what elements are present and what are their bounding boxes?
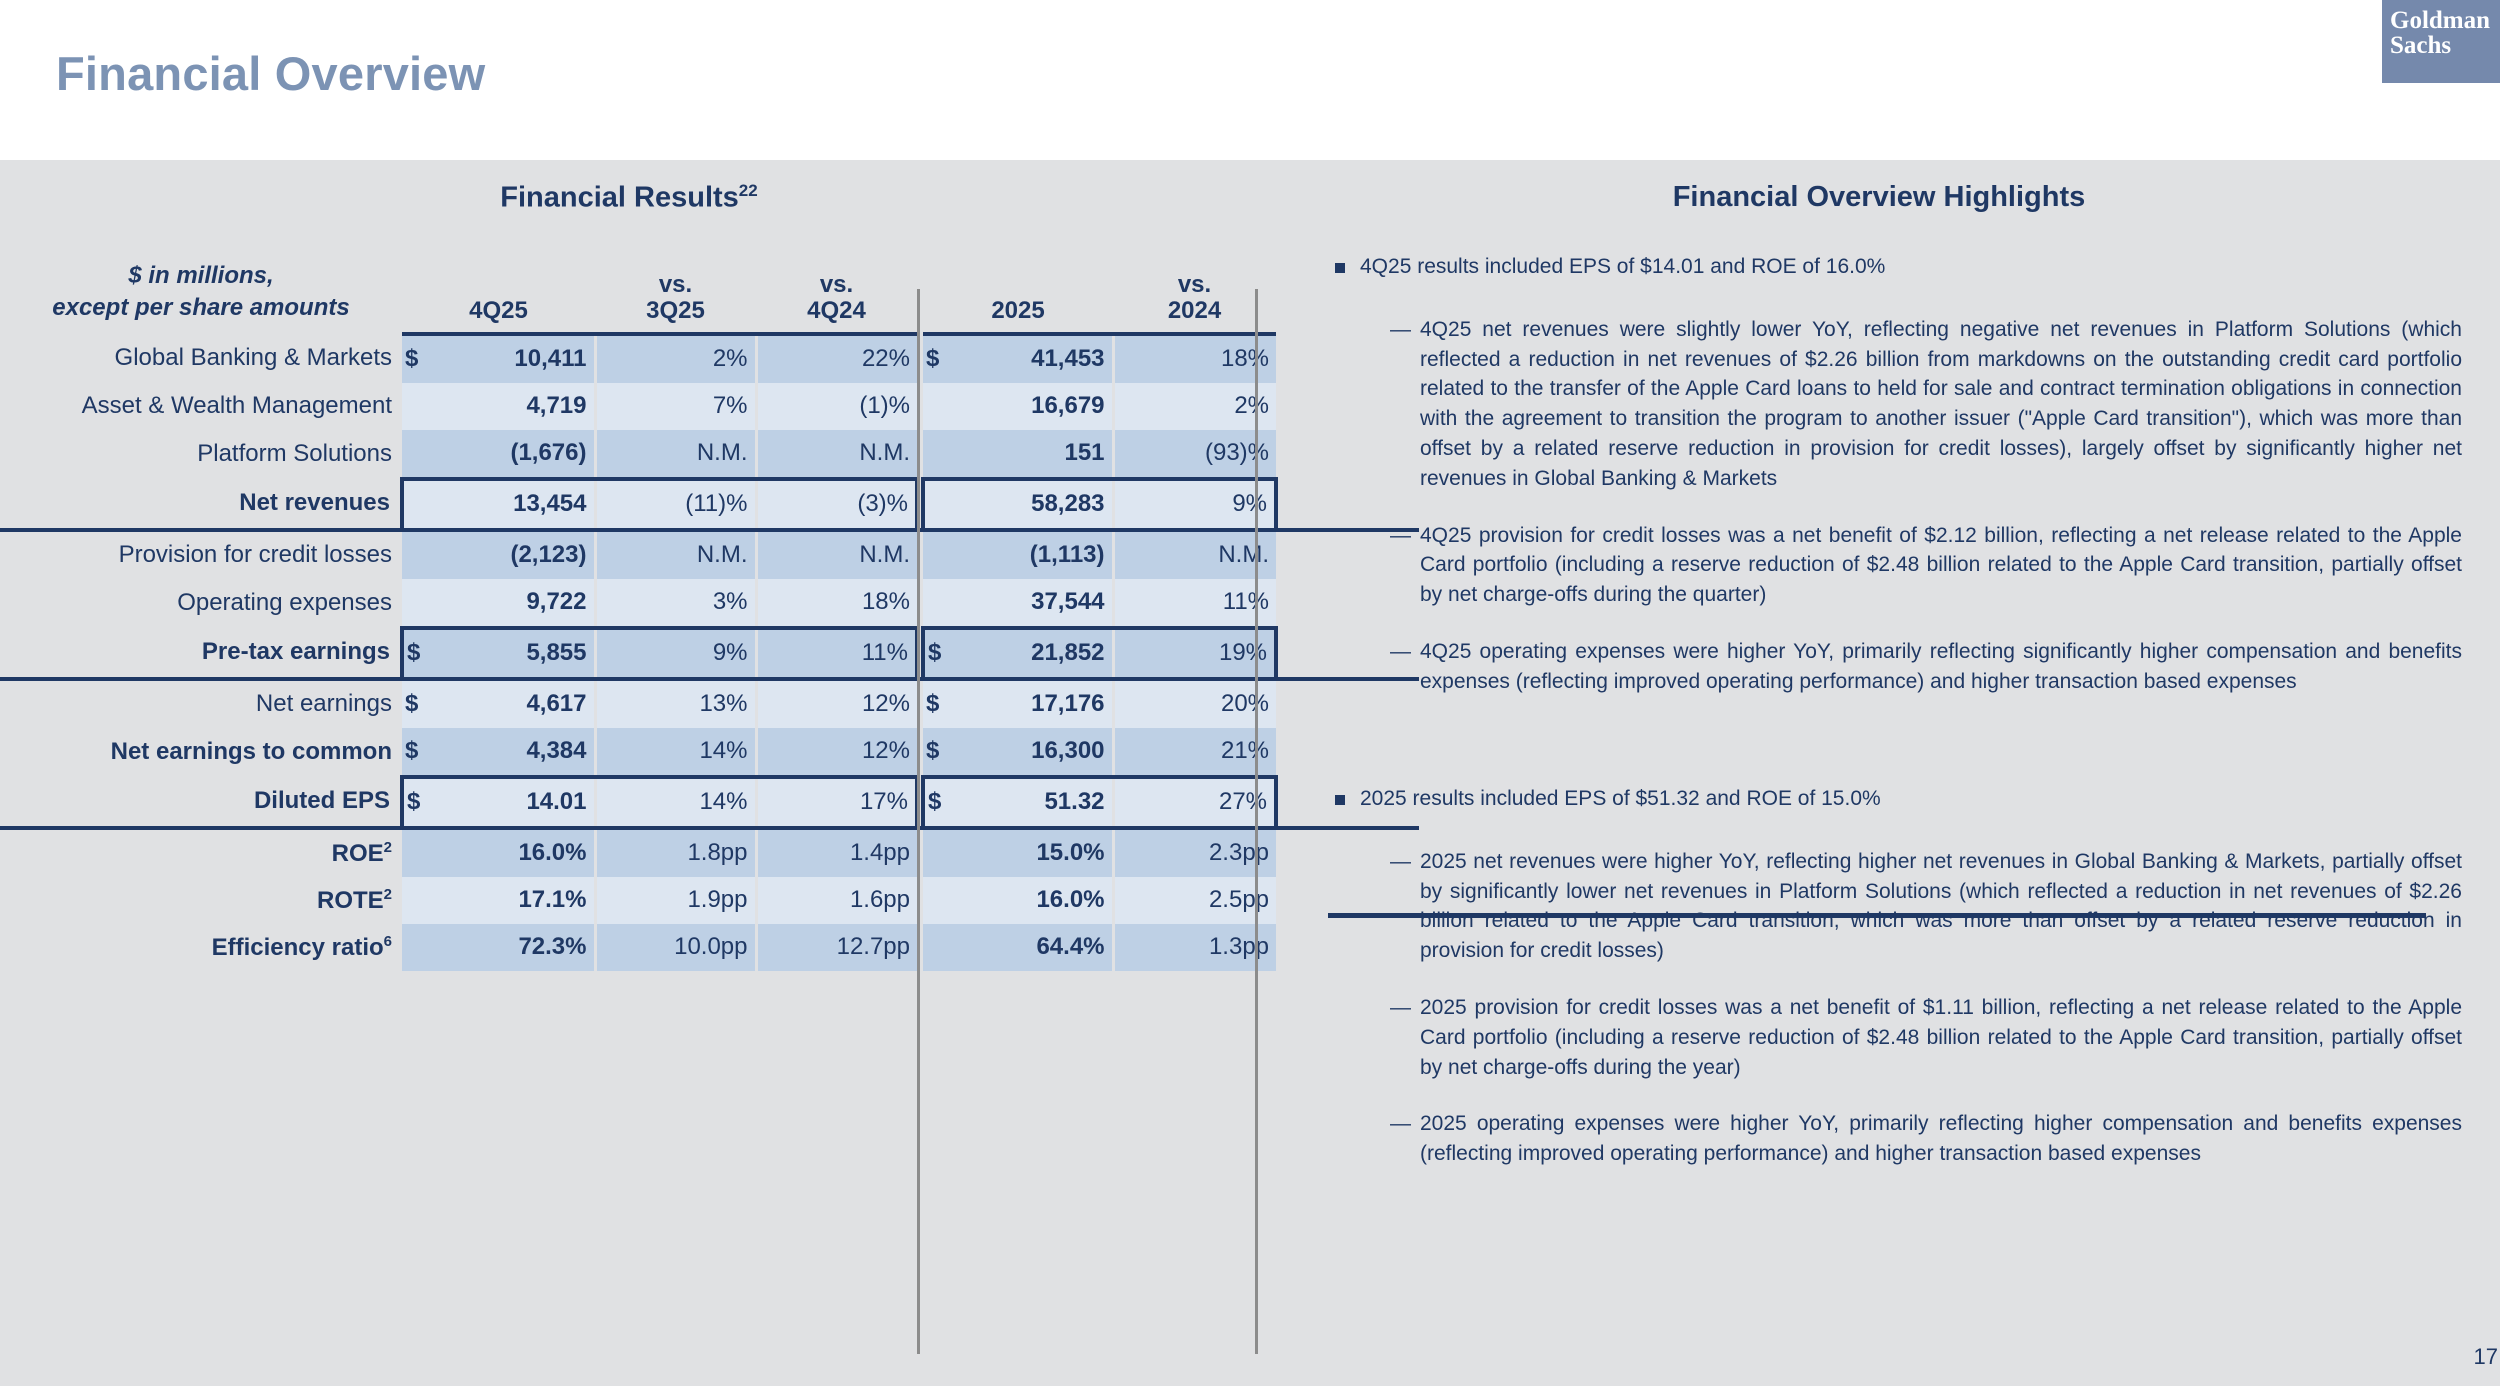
cell-annual-currency (923, 877, 954, 924)
cell-annual-currency (923, 924, 954, 971)
cell-4q25: 72.3% (435, 924, 595, 971)
table-row: Asset & Wealth Management4,7197%(1)%16,6… (0, 383, 1419, 430)
row-label: Net earnings (0, 679, 402, 728)
cell-vs-3q25: 1.8pp (595, 828, 756, 877)
cell-2025: 15.0% (954, 828, 1113, 877)
row-label: Net revenues (0, 479, 402, 530)
column-header-4q25: 4Q25 (402, 260, 595, 334)
page-title: Financial Overview (56, 46, 485, 101)
cell-annual-currency (923, 383, 954, 430)
cell-vs-3q25: 14% (595, 728, 756, 777)
logo-line-1: Goldman (2390, 8, 2500, 33)
table-row: Net earnings$4,61713%12%$17,17620% (0, 679, 1419, 728)
cell-quarter-currency (402, 430, 435, 479)
table-row: Operating expenses9,7223%18%37,54411% (0, 579, 1419, 628)
cell-2025: 41,453 (954, 334, 1113, 383)
financial-results-table: $ in millions, except per share amounts … (0, 260, 1419, 971)
row-label-footnote: 2 (384, 839, 392, 856)
cell-annual-currency (923, 828, 954, 877)
cell-vs-4q24: (3)% (756, 479, 917, 530)
cell-4q25: 14.01 (435, 777, 595, 828)
cell-vs-2024: 11% (1113, 579, 1276, 628)
cell-vs-3q25: 3% (595, 579, 756, 628)
cell-quarter-currency (402, 579, 435, 628)
cell-vs-4q24: 12% (756, 679, 917, 728)
column-header-3q25-vs: vs. (595, 272, 756, 297)
column-header-2025-label: 2025 (923, 298, 1113, 323)
cell-vs-2024: 2.3pp (1113, 828, 1276, 877)
column-header-3q25: vs. 3Q25 (595, 260, 756, 334)
financial-results-title: Financial Results22 (0, 181, 1258, 215)
row-label: Asset & Wealth Management (0, 383, 402, 430)
column-header-2025: 2025 (923, 260, 1113, 334)
highlights-item: 2025 net revenues were higher YoY, refle… (1390, 847, 2462, 966)
cell-vs-4q24: 1.4pp (756, 828, 917, 877)
cell-vs-2024: 20% (1113, 679, 1276, 728)
cell-quarter-currency (402, 828, 435, 877)
units-line-1: $ in millions, (0, 260, 402, 292)
cell-4q25: 16.0% (435, 828, 595, 877)
cell-vs-2024: 21% (1113, 728, 1276, 777)
cell-annual-currency: $ (923, 628, 954, 679)
cell-4q25: 9,722 (435, 579, 595, 628)
table-row: Efficiency ratio672.3%10.0pp12.7pp64.4%1… (0, 924, 1419, 971)
highlights-panel: Financial Overview Highlights 4Q25 resul… (1258, 160, 2500, 1386)
row-label: ROTE2 (0, 877, 402, 924)
cell-vs-3q25: 2% (595, 334, 756, 383)
cell-vs-3q25: 1.9pp (595, 877, 756, 924)
cell-2025: 58,283 (954, 479, 1113, 530)
cell-quarter-currency: $ (402, 628, 435, 679)
cell-annual-currency (923, 579, 954, 628)
column-header-4q24: vs. 4Q24 (756, 260, 917, 334)
column-group-divider (917, 289, 920, 1354)
cell-vs-3q25: N.M. (595, 430, 756, 479)
cell-2025: 16,679 (954, 383, 1113, 430)
cell-vs-2024: 18% (1113, 334, 1276, 383)
cell-vs-4q24: 18% (756, 579, 917, 628)
cell-annual-currency: $ (923, 728, 954, 777)
table-body: Global Banking & Markets$10,4112%22%$41,… (0, 334, 1419, 971)
cell-vs-3q25: 9% (595, 628, 756, 679)
column-header-2024-vs: vs. (1113, 272, 1276, 297)
table-row: Global Banking & Markets$10,4112%22%$41,… (0, 334, 1419, 383)
table-row: Net earnings to common$4,38414%12%$16,30… (0, 728, 1419, 777)
table-row: Pre-tax earnings$5,8559%11%$21,85219% (0, 628, 1419, 679)
page-number: 17 (2474, 1344, 2498, 1370)
row-label: Provision for credit losses (0, 530, 402, 579)
cell-2025: 151 (954, 430, 1113, 479)
cell-2025: 51.32 (954, 777, 1113, 828)
cell-vs-4q24: 12% (756, 728, 917, 777)
cell-vs-2024: 2.5pp (1113, 877, 1276, 924)
cell-4q25: 4,719 (435, 383, 595, 430)
cell-vs-2024: (93)% (1113, 430, 1276, 479)
cell-annual-currency (923, 479, 954, 530)
column-header-4q25-label: 4Q25 (402, 298, 595, 323)
cell-quarter-currency: $ (402, 777, 435, 828)
row-label: Pre-tax earnings (0, 628, 402, 679)
cell-quarter-currency (402, 877, 435, 924)
cell-vs-4q24: 22% (756, 334, 917, 383)
cell-vs-2024: 2% (1113, 383, 1276, 430)
highlights-item: 2025 operating expenses were higher YoY,… (1390, 1109, 2462, 1169)
cell-quarter-currency (402, 530, 435, 579)
cell-4q25: 10,411 (435, 334, 595, 383)
cell-vs-3q25: 10.0pp (595, 924, 756, 971)
row-label: ROE2 (0, 828, 402, 877)
cell-quarter-currency: $ (402, 728, 435, 777)
cell-vs-4q24: N.M. (756, 530, 917, 579)
cell-annual-currency (923, 530, 954, 579)
cell-vs-4q24: 12.7pp (756, 924, 917, 971)
highlights-item: 4Q25 operating expenses were higher YoY,… (1390, 637, 2462, 697)
highlights-group-2: 2025 results included EPS of $51.32 and … (1332, 785, 2462, 1196)
cell-vs-4q24: 17% (756, 777, 917, 828)
cell-quarter-currency: $ (402, 334, 435, 383)
row-label: Net earnings to common (0, 728, 402, 777)
cell-2025: (1,113) (954, 530, 1113, 579)
table-row: ROTE217.1%1.9pp1.6pp16.0%2.5pp (0, 877, 1419, 924)
financial-results-title-text: Financial Results (500, 182, 739, 214)
cell-vs-2024: N.M. (1113, 530, 1276, 579)
cell-2025: 21,852 (954, 628, 1113, 679)
row-label: Global Banking & Markets (0, 334, 402, 383)
cell-4q25: 4,384 (435, 728, 595, 777)
cell-annual-currency (923, 430, 954, 479)
slide-header: Financial Overview Goldman Sachs (0, 0, 2500, 160)
column-header-4q24-label: 4Q24 (756, 298, 917, 323)
cell-4q25: (1,676) (435, 430, 595, 479)
cell-vs-2024: 19% (1113, 628, 1276, 679)
cell-vs-3q25: 7% (595, 383, 756, 430)
table-row: Net revenues13,454(11)%(3)%58,2839% (0, 479, 1419, 530)
column-header-2024-label: 2024 (1113, 298, 1276, 323)
cell-vs-2024: 9% (1113, 479, 1276, 530)
table-row: Platform Solutions(1,676)N.M.N.M.151(93)… (0, 430, 1419, 479)
row-label-footnote: 6 (384, 933, 392, 950)
row-label: Diluted EPS (0, 777, 402, 828)
cell-vs-3q25: N.M. (595, 530, 756, 579)
row-label: Platform Solutions (0, 430, 402, 479)
cell-2025: 37,544 (954, 579, 1113, 628)
cell-vs-3q25: 13% (595, 679, 756, 728)
cell-4q25: 17.1% (435, 877, 595, 924)
cell-quarter-currency (402, 383, 435, 430)
cell-4q25: 4,617 (435, 679, 595, 728)
cell-vs-4q24: 11% (756, 628, 917, 679)
cell-quarter-currency (402, 479, 435, 530)
row-label: Operating expenses (0, 579, 402, 628)
column-header-2024: vs. 2024 (1113, 260, 1276, 334)
row-label-footnote: 2 (384, 886, 392, 903)
highlights-headline-4q25: 4Q25 results included EPS of $14.01 and … (1332, 253, 2462, 281)
cell-4q25: 5,855 (435, 628, 595, 679)
cell-annual-currency: $ (923, 334, 954, 383)
table-row: Provision for credit losses(2,123)N.M.N.… (0, 530, 1419, 579)
cell-vs-4q24: (1)% (756, 383, 917, 430)
highlights-title: Financial Overview Highlights (1258, 181, 2500, 214)
cell-vs-2024: 27% (1113, 777, 1276, 828)
column-header-4q24-vs: vs. (756, 272, 917, 297)
cell-2025: 64.4% (954, 924, 1113, 971)
cell-2025: 16.0% (954, 877, 1113, 924)
units-label: $ in millions, except per share amounts (0, 260, 402, 334)
row-label: Efficiency ratio6 (0, 924, 402, 971)
cell-annual-currency: $ (923, 679, 954, 728)
slide-body: Financial Results22 $ in millions, excep… (0, 160, 2500, 1386)
cell-4q25: (2,123) (435, 530, 595, 579)
highlights-item: 4Q25 net revenues were slightly lower Yo… (1390, 315, 2462, 494)
highlights-group-1: 4Q25 results included EPS of $14.01 and … (1332, 253, 2462, 724)
cell-quarter-currency (402, 924, 435, 971)
table-header-row: $ in millions, except per share amounts … (0, 260, 1419, 334)
cell-vs-4q24: 1.6pp (756, 877, 917, 924)
table-row: Diluted EPS$14.0114%17%$51.3227% (0, 777, 1419, 828)
highlights-item: 4Q25 provision for credit losses was a n… (1390, 521, 2462, 610)
table-row: ROE216.0%1.8pp1.4pp15.0%2.3pp (0, 828, 1419, 877)
column-header-3q25-label: 3Q25 (595, 298, 756, 323)
highlights-section-divider (1328, 913, 2426, 918)
units-line-2: except per share amounts (0, 292, 402, 324)
cell-quarter-currency: $ (402, 679, 435, 728)
cell-vs-2024: 1.3pp (1113, 924, 1276, 971)
cell-vs-3q25: 14% (595, 777, 756, 828)
cell-vs-3q25: (11)% (595, 479, 756, 530)
goldman-sachs-logo: Goldman Sachs (2382, 0, 2500, 83)
cell-2025: 16,300 (954, 728, 1113, 777)
cell-2025: 17,176 (954, 679, 1113, 728)
financial-results-panel: Financial Results22 $ in millions, excep… (0, 160, 1258, 1386)
cell-annual-currency: $ (923, 777, 954, 828)
cell-4q25: 13,454 (435, 479, 595, 530)
financial-results-title-footnote: 22 (739, 181, 758, 200)
cell-vs-4q24: N.M. (756, 430, 917, 479)
highlights-item: 2025 provision for credit losses was a n… (1390, 993, 2462, 1082)
highlights-headline-2025: 2025 results included EPS of $51.32 and … (1332, 785, 2462, 813)
logo-line-2: Sachs (2390, 33, 2500, 58)
